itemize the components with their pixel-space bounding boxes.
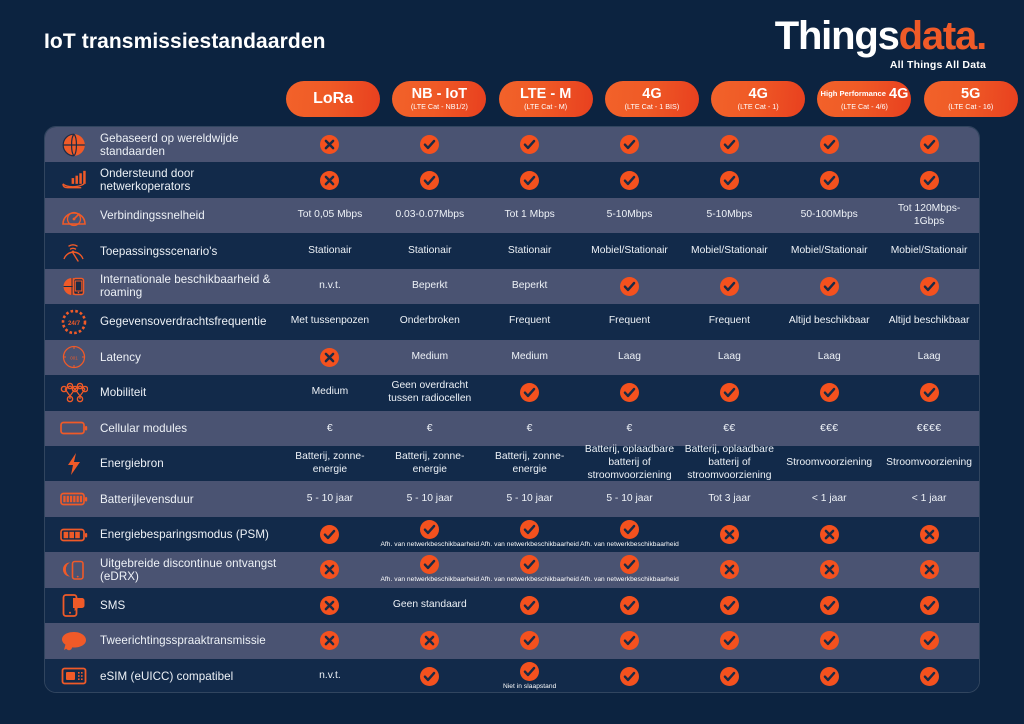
table-cell <box>879 552 979 587</box>
cell-note: Niet in slaapstand <box>503 683 556 691</box>
row-label-text: Latency <box>100 351 141 364</box>
table-cell: € <box>280 411 380 446</box>
cell-value: € <box>327 422 333 435</box>
row-cells: Afh. van netwerkbeschikbaarheidAfh. van … <box>280 552 979 587</box>
cell-value: € <box>626 422 632 435</box>
table-row: Cellular modules€€€€€€€€€€€€€ <box>45 411 979 446</box>
check-icon <box>320 525 339 544</box>
table-row: MobiliteitMediumGeen overdracht tussen r… <box>45 375 979 410</box>
column-pill-2[interactable]: NB - IoT(LTE Cat - NB1/2) <box>392 81 486 117</box>
table-cell <box>779 375 879 410</box>
table-cell: Mobiel/Stationair <box>580 233 680 268</box>
row-label-cell: SMS <box>45 588 280 623</box>
table-cell: Beperkt <box>480 269 580 304</box>
check-icon <box>620 667 639 686</box>
check-icon <box>520 662 539 681</box>
row-cells: n.v.t.BeperktBeperkt <box>280 269 979 304</box>
cross-icon <box>320 171 339 190</box>
table-cell <box>679 623 779 658</box>
cell-value: Laag <box>618 351 641 364</box>
check-icon <box>820 667 839 686</box>
table-cell <box>380 659 480 693</box>
cross-icon <box>920 525 939 544</box>
cell-value: Altijd beschikbaar <box>789 315 870 328</box>
logo-dot: . <box>976 14 986 58</box>
wifi-signal-icon <box>59 236 89 266</box>
row-label-text: Mobiliteit <box>100 386 146 399</box>
cell-value: Batterij, zonne-energie <box>384 451 476 477</box>
cell-value: 0.03-0.07Mbps <box>395 209 464 222</box>
table-cell: Batterij, zonne-energie <box>480 446 580 481</box>
row-cells: 5 - 10 jaar5 - 10 jaar5 - 10 jaar5 - 10 … <box>280 481 979 516</box>
cell-value: 5-10Mbps <box>706 209 752 222</box>
table-row: 001LatencyMediumMediumLaagLaagLaagLaag <box>45 340 979 375</box>
table-row: VerbindingssnelheidTot 0,05 Mbps0.03-0.0… <box>45 198 979 233</box>
check-icon <box>520 631 539 650</box>
check-icon <box>920 383 939 402</box>
table-cell: Batterij, zonne-energie <box>280 446 380 481</box>
row-cells: Geen standaard <box>280 588 979 623</box>
row-label-text: Uitgebreide discontinue ontvangst (eDRX) <box>100 557 280 583</box>
check-icon <box>420 667 439 686</box>
table-cell <box>779 552 879 587</box>
cross-icon <box>720 525 739 544</box>
check-icon <box>620 596 639 615</box>
cell-value: Frequent <box>709 315 750 328</box>
row-label-text: eSIM (eUICC) compatibel <box>100 670 233 683</box>
table-cell: Stationair <box>380 233 480 268</box>
table-cell: Medium <box>480 340 580 375</box>
row-label-cell: Ondersteund door netwerkoperators <box>45 162 280 197</box>
cross-icon <box>820 525 839 544</box>
speech-bubbles-icon <box>59 626 89 656</box>
cell-value: Stationair <box>508 245 552 258</box>
check-icon <box>720 596 739 615</box>
check-icon <box>520 171 539 190</box>
check-icon <box>920 667 939 686</box>
table-cell <box>879 517 979 552</box>
column-pill-subtitle: (LTE Cat - M) <box>524 103 567 111</box>
table-cell: Batterij, oplaadbare batterij of stroomv… <box>580 446 680 481</box>
cell-value: Frequent <box>609 315 650 328</box>
table-cell: Afh. van netwerkbeschikbaarheid <box>580 517 680 552</box>
check-icon <box>820 135 839 154</box>
row-label-text: Gegevensoverdrachtsfrequentie <box>100 315 266 328</box>
cross-icon <box>320 560 339 579</box>
table-cell <box>779 162 879 197</box>
signal-bars-icon <box>59 165 89 195</box>
column-pill-3[interactable]: LTE - M(LTE Cat - M) <box>499 81 593 117</box>
row-label-cell: eSIM (eUICC) compatibel <box>45 659 280 693</box>
cell-value: Tot 3 jaar <box>708 493 750 506</box>
table-cell: Tot 1 Mbps <box>480 198 580 233</box>
table-cell <box>480 588 580 623</box>
table-cell: Altijd beschikbaar <box>779 304 879 339</box>
column-pill-subtitle: (LTE Cat - 16) <box>948 103 993 111</box>
row-label-text: Energiebesparingsmodus (PSM) <box>100 528 269 541</box>
table-row: Internationale beschikbaarheid & roaming… <box>45 269 979 304</box>
cross-icon <box>820 560 839 579</box>
column-pill-title: LoRa <box>313 91 353 108</box>
column-pill-title: LTE - M <box>520 87 571 102</box>
infographic-page: IoT transmissiestandaarden Thingsdata. A… <box>0 0 1024 724</box>
table-cell <box>879 659 979 693</box>
cell-value: Medium <box>312 386 349 399</box>
table-cell <box>679 552 779 587</box>
table-cell <box>679 588 779 623</box>
column-pill-title: 4G <box>749 87 768 102</box>
row-label-text: Gebaseerd op wereldwijde standaarden <box>100 132 280 158</box>
row-label-cell: Toepassingsscenario's <box>45 233 280 268</box>
check-icon <box>520 555 539 574</box>
check-icon <box>720 631 739 650</box>
table-cell <box>280 623 380 658</box>
table-cell <box>280 552 380 587</box>
cell-value: Mobiel/Stationair <box>791 245 868 258</box>
cell-value: Frequent <box>509 315 550 328</box>
table-cell: Afh. van netwerkbeschikbaarheid <box>580 552 680 587</box>
row-label-text: Toepassingsscenario's <box>100 245 217 258</box>
table-cell: Laag <box>779 340 879 375</box>
table-cell <box>879 588 979 623</box>
check-icon <box>920 631 939 650</box>
table-cell: Geen standaard <box>380 588 480 623</box>
table-cell: Batterij, oplaadbare batterij of stroomv… <box>679 446 779 481</box>
cell-value: 5 - 10 jaar <box>506 493 552 506</box>
table-cell <box>779 623 879 658</box>
cell-value: Stationair <box>308 245 352 258</box>
table-cell: €€€€ <box>879 411 979 446</box>
column-pill-subtitle: (LTE Cat - 1) <box>738 103 779 111</box>
row-cells: MediumGeen overdracht tussen radiocellen <box>280 375 979 410</box>
battery-empty-icon <box>59 413 89 443</box>
table-cell: Frequent <box>679 304 779 339</box>
table-cell: Medium <box>380 340 480 375</box>
column-pill-7[interactable]: 5G(LTE Cat - 16) <box>924 81 1018 117</box>
table-cell: Beperkt <box>380 269 480 304</box>
cell-value: Altijd beschikbaar <box>889 315 970 328</box>
sim-card-icon <box>59 661 89 691</box>
logo-tagline: All Things All Data <box>775 60 986 71</box>
row-cells: MediumMediumLaagLaagLaagLaag <box>280 340 979 375</box>
row-label-cell: Cellular modules <box>45 411 280 446</box>
table-cell: < 1 jaar <box>779 481 879 516</box>
column-pill-4[interactable]: 4G(LTE Cat - 1 BIS) <box>605 81 699 117</box>
twentyfourseven-icon: 24/7 <box>59 307 89 337</box>
table-cell: € <box>380 411 480 446</box>
cell-value: Batterij, zonne-energie <box>284 451 376 477</box>
check-icon <box>420 520 439 539</box>
cell-value: Tot 0,05 Mbps <box>298 209 363 222</box>
logo-data-text: data <box>899 14 976 58</box>
check-icon <box>620 171 639 190</box>
cell-value: Beperkt <box>512 280 548 293</box>
table-cell: n.v.t. <box>280 659 380 693</box>
check-icon <box>520 383 539 402</box>
row-label-cell: Uitgebreide discontinue ontvangst (eDRX) <box>45 552 280 587</box>
row-cells <box>280 162 979 197</box>
check-icon <box>620 555 639 574</box>
cell-value: Laag <box>818 351 841 364</box>
table-cell <box>679 127 779 162</box>
table-row: Tweerichtingsspraaktransmissie <box>45 623 979 658</box>
table-cell: Afh. van netwerkbeschikbaarheid <box>380 552 480 587</box>
row-cells: Tot 0,05 Mbps0.03-0.07MbpsTot 1 Mbps5-10… <box>280 198 979 233</box>
table-row: Gebaseerd op wereldwijde standaarden <box>45 127 979 162</box>
table-row: Batterijlevensduur5 - 10 jaar5 - 10 jaar… <box>45 481 979 516</box>
check-icon <box>620 277 639 296</box>
table-cell <box>580 269 680 304</box>
table-cell <box>480 623 580 658</box>
logo-wordmark: Thingsdata. <box>775 16 986 56</box>
table-cell <box>580 375 680 410</box>
cell-value: Stroomvoorziening <box>886 457 972 470</box>
sms-phone-icon <box>59 590 89 620</box>
cell-value: Tot 120Mbps-1Gbps <box>883 203 975 229</box>
table-cell: Geen overdracht tussen radiocellen <box>380 375 480 410</box>
comparison-table: Gebaseerd op wereldwijde standaardenOnde… <box>44 126 980 693</box>
row-cells: Batterij, zonne-energieBatterij, zonne-e… <box>280 446 979 481</box>
row-label-text: SMS <box>100 599 125 612</box>
check-icon <box>820 383 839 402</box>
cell-value: Met tussenpozen <box>291 315 369 328</box>
row-label-text: Verbindingssnelheid <box>100 209 205 222</box>
cross-icon <box>320 596 339 615</box>
cross-icon <box>720 560 739 579</box>
row-label-cell: Verbindingssnelheid <box>45 198 280 233</box>
table-cell: Batterij, zonne-energie <box>380 446 480 481</box>
cell-value: Batterij, oplaadbare batterij of stroomv… <box>683 444 775 483</box>
column-pill-title: 4G <box>642 87 661 102</box>
cell-value: Stroomvoorziening <box>786 457 872 470</box>
table-row: Uitgebreide discontinue ontvangst (eDRX)… <box>45 552 979 587</box>
cell-value: Geen overdracht tussen radiocellen <box>384 380 476 406</box>
check-icon <box>620 631 639 650</box>
table-cell: Medium <box>280 375 380 410</box>
lightning-bolt-icon <box>59 449 89 479</box>
cell-value: 5-10Mbps <box>607 209 653 222</box>
table-cell: 5-10Mbps <box>580 198 680 233</box>
table-cell <box>280 162 380 197</box>
table-cell <box>280 588 380 623</box>
column-header-pills: LoRaNB - IoT(LTE Cat - NB1/2)LTE - M(LTE… <box>280 80 1024 118</box>
table-cell: Mobiel/Stationair <box>779 233 879 268</box>
brand-logo: Thingsdata. All Things All Data <box>775 16 986 71</box>
row-cells: Afh. van netwerkbeschikbaarheidAfh. van … <box>280 517 979 552</box>
clock-icon: 001 <box>59 342 89 372</box>
table-row: Ondersteund door netwerkoperators <box>45 162 979 197</box>
svg-text:24/7: 24/7 <box>68 320 81 327</box>
table-cell: Stroomvoorziening <box>779 446 879 481</box>
cell-value: < 1 jaar <box>812 493 847 506</box>
column-pill-6[interactable]: High Performance 4G(LTE Cat - 4/6) <box>817 81 911 117</box>
cell-value: Laag <box>718 351 741 364</box>
table-cell: Stationair <box>480 233 580 268</box>
table-cell <box>879 269 979 304</box>
cross-icon <box>320 348 339 367</box>
column-pill-title: 5G <box>961 87 980 102</box>
table-cell <box>280 127 380 162</box>
check-icon <box>820 596 839 615</box>
cell-value: 5 - 10 jaar <box>407 493 453 506</box>
table-cell <box>879 375 979 410</box>
row-label-text: Internationale beschikbaarheid & roaming <box>100 273 280 299</box>
row-cells: Met tussenpozenOnderbrokenFrequentFreque… <box>280 304 979 339</box>
check-icon <box>720 383 739 402</box>
table-cell: 0.03-0.07Mbps <box>380 198 480 233</box>
row-label-text: Ondersteund door netwerkoperators <box>100 167 280 193</box>
table-cell <box>280 517 380 552</box>
table-row: 24/7GegevensoverdrachtsfrequentieMet tus… <box>45 304 979 339</box>
check-icon <box>520 596 539 615</box>
table-cell <box>480 162 580 197</box>
cell-note: Afh. van netwerkbeschikbaarheid <box>580 541 679 549</box>
table-cell: Stationair <box>280 233 380 268</box>
column-pill-subtitle: (LTE Cat - 1 BIS) <box>625 103 680 111</box>
check-icon <box>820 631 839 650</box>
cell-value: €€€€ <box>917 422 942 435</box>
cell-value: Mobiel/Stationair <box>891 245 968 258</box>
row-label-cell: Batterijlevensduur <box>45 481 280 516</box>
cross-icon <box>920 560 939 579</box>
row-cells: €€€€€€€€€€€€€ <box>280 411 979 446</box>
cell-note: Afh. van netwerkbeschikbaarheid <box>480 541 579 549</box>
table-cell <box>580 162 680 197</box>
check-icon <box>520 520 539 539</box>
row-label-cell: Energiebron <box>45 446 280 481</box>
row-cells: StationairStationairStationairMobiel/Sta… <box>280 233 979 268</box>
cell-note: Afh. van netwerkbeschikbaarheid <box>380 576 479 584</box>
table-cell <box>580 623 680 658</box>
cell-value: n.v.t. <box>319 670 341 683</box>
table-cell: Laag <box>679 340 779 375</box>
table-cell <box>779 659 879 693</box>
check-icon <box>820 277 839 296</box>
table-cell: Afh. van netwerkbeschikbaarheid <box>380 517 480 552</box>
table-row: Toepassingsscenario'sStationairStationai… <box>45 233 979 268</box>
table-cell <box>380 162 480 197</box>
page-title: IoT transmissiestandaarden <box>44 30 326 54</box>
table-cell <box>380 623 480 658</box>
table-cell <box>580 127 680 162</box>
table-cell <box>679 517 779 552</box>
row-cells: n.v.t.Niet in slaapstand <box>280 659 979 693</box>
globe-icon <box>59 130 89 160</box>
check-icon <box>420 555 439 574</box>
check-icon <box>720 171 739 190</box>
table-cell: 5 - 10 jaar <box>280 481 380 516</box>
table-cell <box>480 127 580 162</box>
table-cell: Tot 120Mbps-1Gbps <box>879 198 979 233</box>
cell-value: Medium <box>411 351 448 364</box>
table-cell: 5-10Mbps <box>679 198 779 233</box>
cell-value: Mobiel/Stationair <box>691 245 768 258</box>
table-cell: Niet in slaapstand <box>480 659 580 693</box>
table-cell: € <box>480 411 580 446</box>
table-cell: €€€ <box>779 411 879 446</box>
check-icon <box>420 171 439 190</box>
svg-text:001: 001 <box>70 356 78 361</box>
table-cell: Afh. van netwerkbeschikbaarheid <box>480 517 580 552</box>
network-nodes-icon <box>59 378 89 408</box>
cell-value: Tot 1 Mbps <box>504 209 554 222</box>
table-cell <box>580 659 680 693</box>
cell-value: € <box>527 422 533 435</box>
check-icon <box>920 171 939 190</box>
cell-value: 5 - 10 jaar <box>606 493 652 506</box>
table-cell <box>679 162 779 197</box>
moon-phone-icon <box>59 555 89 585</box>
check-icon <box>620 383 639 402</box>
table-cell <box>679 375 779 410</box>
row-cells <box>280 623 979 658</box>
row-label-cell: Gebaseerd op wereldwijde standaarden <box>45 127 280 162</box>
cell-value: Batterij, oplaadbare batterij of stroomv… <box>584 444 676 483</box>
column-pill-1[interactable]: LoRa <box>286 81 380 117</box>
column-pill-5[interactable]: 4G(LTE Cat - 1) <box>711 81 805 117</box>
table-cell <box>679 659 779 693</box>
table-cell: Mobiel/Stationair <box>879 233 979 268</box>
table-row: Energiebesparingsmodus (PSM)Afh. van net… <box>45 517 979 552</box>
check-icon <box>920 135 939 154</box>
cell-value: € <box>427 422 433 435</box>
table-cell <box>779 588 879 623</box>
table-cell <box>480 375 580 410</box>
column-pill-title: NB - IoT <box>412 87 468 102</box>
column-pill-prefix: High Performance <box>821 89 889 98</box>
table-cell <box>779 269 879 304</box>
column-pill-title: High Performance 4G <box>821 87 909 102</box>
cell-value: Beperkt <box>412 280 448 293</box>
table-cell: Met tussenpozen <box>280 304 380 339</box>
table-cell: Laag <box>879 340 979 375</box>
row-label-cell: Tweerichtingsspraaktransmissie <box>45 623 280 658</box>
cell-value: €€ <box>723 422 735 435</box>
row-label-cell: 001Latency <box>45 340 280 375</box>
table-cell: Laag <box>580 340 680 375</box>
cell-value: Medium <box>511 351 548 364</box>
check-icon <box>720 135 739 154</box>
table-cell: 5 - 10 jaar <box>480 481 580 516</box>
table-row: eSIM (eUICC) compatibeln.v.t.Niet in sla… <box>45 659 979 693</box>
table-cell: Altijd beschikbaar <box>879 304 979 339</box>
table-cell: Stroomvoorziening <box>879 446 979 481</box>
table-cell: Tot 3 jaar <box>679 481 779 516</box>
check-icon <box>420 135 439 154</box>
table-cell: 50-100Mbps <box>779 198 879 233</box>
row-cells <box>280 127 979 162</box>
check-icon <box>720 277 739 296</box>
check-icon <box>620 520 639 539</box>
table-cell: 5 - 10 jaar <box>580 481 680 516</box>
cell-value: < 1 jaar <box>912 493 947 506</box>
row-label-cell: Mobiliteit <box>45 375 280 410</box>
table-cell: 5 - 10 jaar <box>380 481 480 516</box>
table-row: EnergiebronBatterij, zonne-energieBatter… <box>45 446 979 481</box>
table-cell <box>580 588 680 623</box>
table-cell <box>879 162 979 197</box>
cell-value: Batterij, zonne-energie <box>484 451 576 477</box>
table-cell: €€ <box>679 411 779 446</box>
table-cell: Tot 0,05 Mbps <box>280 198 380 233</box>
row-label-cell: Internationale beschikbaarheid & roaming <box>45 269 280 304</box>
cell-value: €€€ <box>820 422 838 435</box>
cell-note: Afh. van netwerkbeschikbaarheid <box>380 541 479 549</box>
check-icon <box>720 667 739 686</box>
logo-things-text: Things <box>775 14 899 58</box>
cross-icon <box>320 631 339 650</box>
cell-value: Onderbroken <box>400 315 460 328</box>
